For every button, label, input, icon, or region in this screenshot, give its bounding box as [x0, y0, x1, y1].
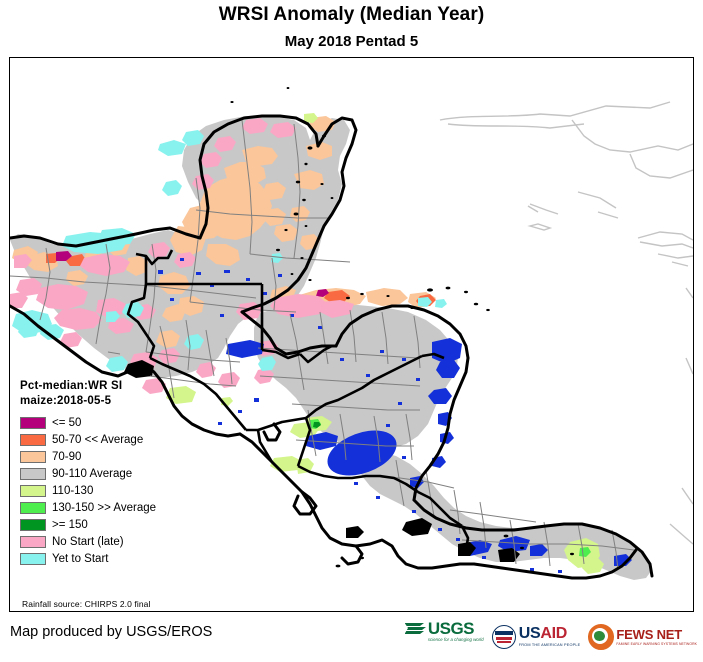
legend-swatch-lte-50	[20, 417, 46, 429]
legend-swatch-110-130	[20, 485, 46, 497]
legend-swatch-50-70	[20, 434, 46, 446]
fews-logo-tagline: FAMINE EARLY WARNING SYSTEMS NETWORK	[616, 643, 697, 646]
legend-swatch-130-150	[20, 502, 46, 514]
legend-label-lte-50: <= 50	[52, 417, 81, 429]
legend-item[interactable]: 130-150 >> Average	[20, 500, 206, 516]
legend-label-110-130: 110-130	[52, 485, 93, 497]
fews-net-logo[interactable]: FEWS NET FAMINE EARLY WARNING SYSTEMS NE…	[588, 620, 697, 654]
map-legend: Pct-median:WR SI maize:2018-05-5 <= 50 5…	[20, 379, 206, 568]
legend-label-gte-150: >= 150	[52, 519, 88, 531]
page-subtitle: May 2018 Pentad 5	[0, 33, 703, 50]
legend-item[interactable]: Yet to Start	[20, 551, 206, 567]
legend-item[interactable]: 70-90	[20, 449, 206, 465]
legend-item[interactable]: 90-110 Average	[20, 466, 206, 482]
usgs-logo[interactable]: USGS science for a changing world	[404, 620, 484, 654]
usaid-logo-name: USAID	[519, 626, 581, 642]
legend-title-line2: maize:2018-05-5	[20, 394, 206, 409]
map-page: WRSI Anomaly (Median Year) May 2018 Pent…	[0, 0, 703, 662]
usgs-logo-name: USGS	[428, 620, 484, 637]
legend-item[interactable]: <= 50	[20, 415, 206, 431]
legend-label-50-70: 50-70 << Average	[52, 434, 143, 446]
legend-items: <= 50 50-70 << Average 70-90 90-110 Aver…	[20, 415, 206, 567]
legend-swatch-90-110	[20, 468, 46, 480]
usaid-logo[interactable]: USAID FROM THE AMERICAN PEOPLE	[492, 620, 581, 654]
usaid-name-us: US	[519, 625, 541, 642]
legend-swatch-70-90	[20, 451, 46, 463]
usgs-logo-tagline: science for a changing world	[428, 638, 484, 642]
page-title: WRSI Anomaly (Median Year)	[0, 4, 703, 26]
usgs-wave-icon	[404, 620, 428, 637]
legend-title-line1: Pct-median:WR SI	[20, 379, 206, 394]
rainfall-source-note: Rainfall source: CHIRPS 2.0 final	[22, 599, 151, 609]
legend-label-130-150: 130-150 >> Average	[52, 502, 156, 514]
map-frame[interactable]: Pct-median:WR SI maize:2018-05-5 <= 50 5…	[9, 57, 694, 612]
legend-item[interactable]: 110-130	[20, 483, 206, 499]
legend-swatch-yet-to-start	[20, 553, 46, 565]
legend-item[interactable]: >= 150	[20, 517, 206, 533]
legend-swatch-gte-150	[20, 519, 46, 531]
legend-label-no-start: No Start (late)	[52, 536, 124, 548]
legend-label-yet-to-start: Yet to Start	[52, 553, 108, 565]
legend-label-70-90: 70-90	[52, 451, 81, 463]
legend-swatch-no-start	[20, 536, 46, 548]
fews-logo-name: FEWS NET	[616, 628, 697, 641]
agency-logos: USGS science for a changing world USAID …	[404, 618, 697, 656]
legend-item[interactable]: 50-70 << Average	[20, 432, 206, 448]
usaid-seal-icon	[492, 625, 516, 649]
map-credit: Map produced by USGS/EROS	[10, 624, 212, 640]
legend-label-90-110: 90-110 Average	[52, 468, 132, 480]
fews-globe-icon	[588, 624, 614, 650]
legend-item[interactable]: No Start (late)	[20, 534, 206, 550]
usaid-logo-tagline: FROM THE AMERICAN PEOPLE	[519, 644, 581, 648]
usaid-name-aid: AID	[540, 625, 567, 642]
